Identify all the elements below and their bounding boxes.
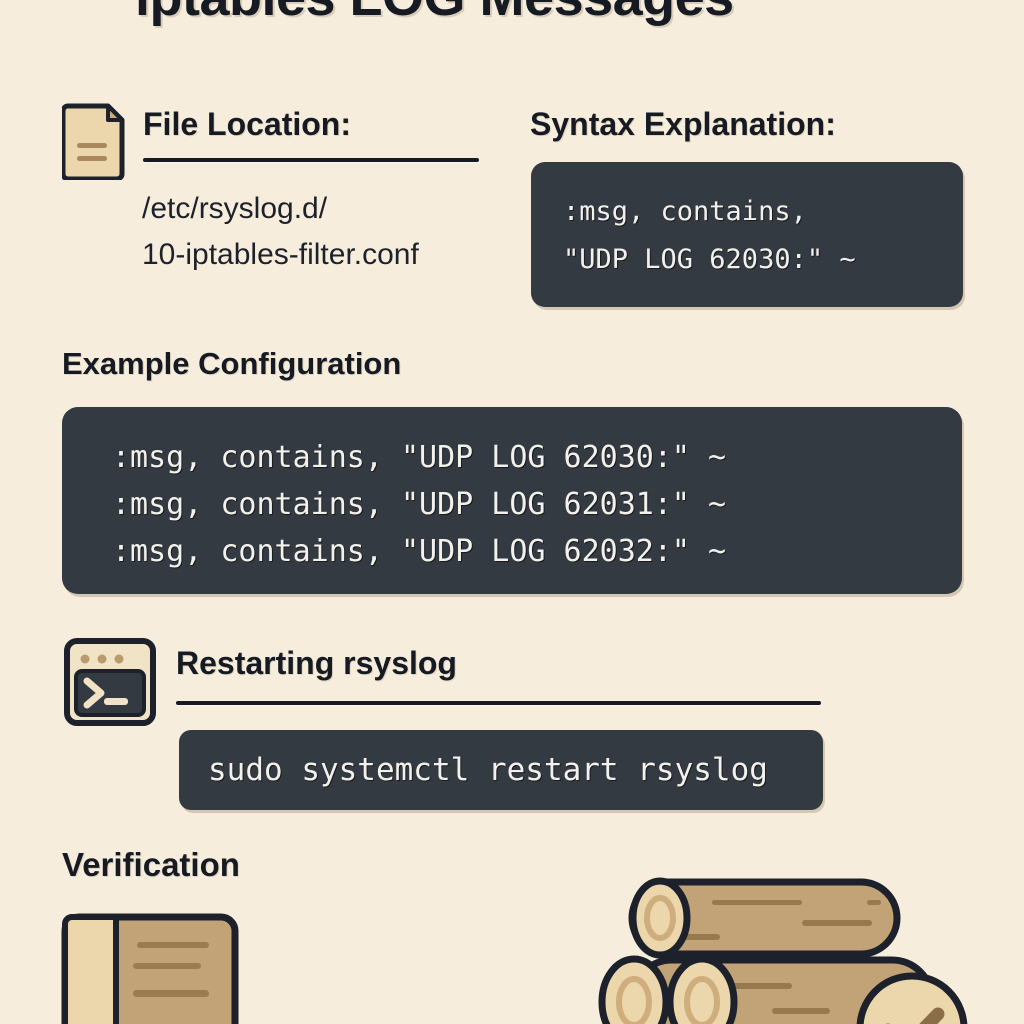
example-code-line: :msg, contains, "UDP LOG 62032:" ~ <box>112 528 962 575</box>
example-code-line: :msg, contains, "UDP LOG 62030:" ~ <box>112 434 962 481</box>
verification-heading: Verification <box>62 846 240 884</box>
file-path-text: /etc/rsyslog.d/ 10-iptables-filter.conf <box>142 186 419 278</box>
syntax-code-line: :msg, contains, <box>563 188 963 236</box>
document-icon <box>62 100 128 180</box>
syntax-explanation-heading: Syntax Explanation: <box>530 106 836 143</box>
file-location-heading: File Location: <box>143 106 351 143</box>
restarting-divider <box>176 701 821 705</box>
file-location-divider <box>143 158 479 162</box>
syntax-explanation-panel: :msg, contains, "UDP LOG 62030:" ~ <box>531 162 963 307</box>
example-configuration-heading: Example Configuration <box>62 346 401 382</box>
syntax-code-line: "UDP LOG 62030:" ~ <box>563 236 963 284</box>
example-code-line: :msg, contains, "UDP LOG 62031:" ~ <box>112 481 962 528</box>
terminal-icon <box>62 636 158 728</box>
log-pile-illustration <box>592 868 1024 1024</box>
restarting-rsyslog-heading: Restarting rsyslog <box>176 645 457 682</box>
example-configuration-panel: :msg, contains, "UDP LOG 62030:" ~ :msg,… <box>62 407 962 594</box>
restart-command-text: sudo systemctl restart rsyslog <box>208 750 823 790</box>
restart-command-panel: sudo systemctl restart rsyslog <box>179 730 823 810</box>
document-illustration <box>60 912 360 1024</box>
page-title: iptables LOG Messages <box>135 0 734 28</box>
infographic-page: iptables LOG Messages File Location: /et… <box>0 0 1024 1024</box>
